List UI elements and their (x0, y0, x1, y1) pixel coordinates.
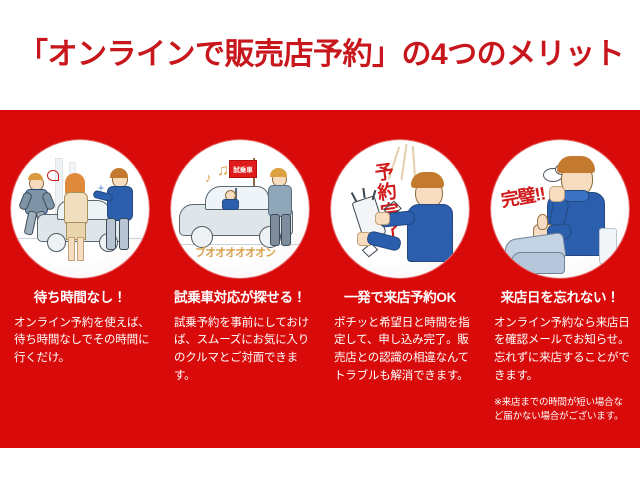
test-drive-sound-caption: ブオオオオオオン (195, 248, 275, 259)
benefit-body-4: オンライン予約なら来店日を確認メールでお知らせ。忘れずに来店することができます。 (486, 315, 634, 386)
footer-white-space (0, 448, 640, 480)
benefit-heading-1: 待ち時間なし！ (6, 290, 154, 306)
benefit-column-2: 試乗車 ♪ ♫ (160, 110, 320, 448)
title-band: 「オンラインで販売店予約」の4つのメリット (0, 0, 640, 110)
benefit-note-4: ※来店までの時間が短い場合など届かない場合がございます。 (486, 396, 634, 424)
perfect-caption: 完璧!! (500, 184, 546, 209)
benefits-columns: 待ち時間なし！ オンライン予約を使えば、待ち時間なしでその時間に行くだけ。 試乗… (0, 110, 640, 448)
benefit-body-2: 試乗予約を事前にしておけば、スムーズにお気に入りのクルマとご対面できます。 (166, 315, 314, 386)
illustration-relaxed-thumbs-up-icon: 完璧!! (491, 140, 629, 278)
illustration-showroom-waiting-icon (11, 140, 149, 278)
page-title: 「オンラインで販売店予約」の4つのメリット (0, 40, 624, 70)
test-drive-flag-label: 試乗車 (229, 160, 257, 178)
benefit-column-4: 完璧!! (480, 110, 640, 448)
benefit-body-1: オンライン予約を使えば、待ち時間なしでその時間に行くだけ。 (6, 315, 154, 368)
benefit-heading-3: 一発で来店予約OK (326, 290, 474, 306)
benefit-heading-2: 試乗車対応が探せる！ (166, 290, 314, 306)
illustration-test-drive-car-icon: 試乗車 ♪ ♫ (171, 140, 309, 278)
benefit-body-3: ポチッと希望日と時間を指定して、申し込み完了。販売店との認識の相違なんてトラブル… (326, 315, 474, 386)
red-content-panel: 待ち時間なし！ オンライン予約を使えば、待ち時間なしでその時間に行くだけ。 試乗… (0, 110, 640, 448)
benefit-heading-4: 来店日を忘れない！ (486, 290, 634, 306)
illustration-smartphone-booking-icon: 予約完了 (331, 140, 469, 278)
benefit-column-1: 待ち時間なし！ オンライン予約を使えば、待ち時間なしでその時間に行くだけ。 (0, 110, 160, 448)
promotional-poster: 「オンラインで販売店予約」の4つのメリット (0, 0, 640, 480)
benefit-column-3: 予約完了 (320, 110, 480, 448)
